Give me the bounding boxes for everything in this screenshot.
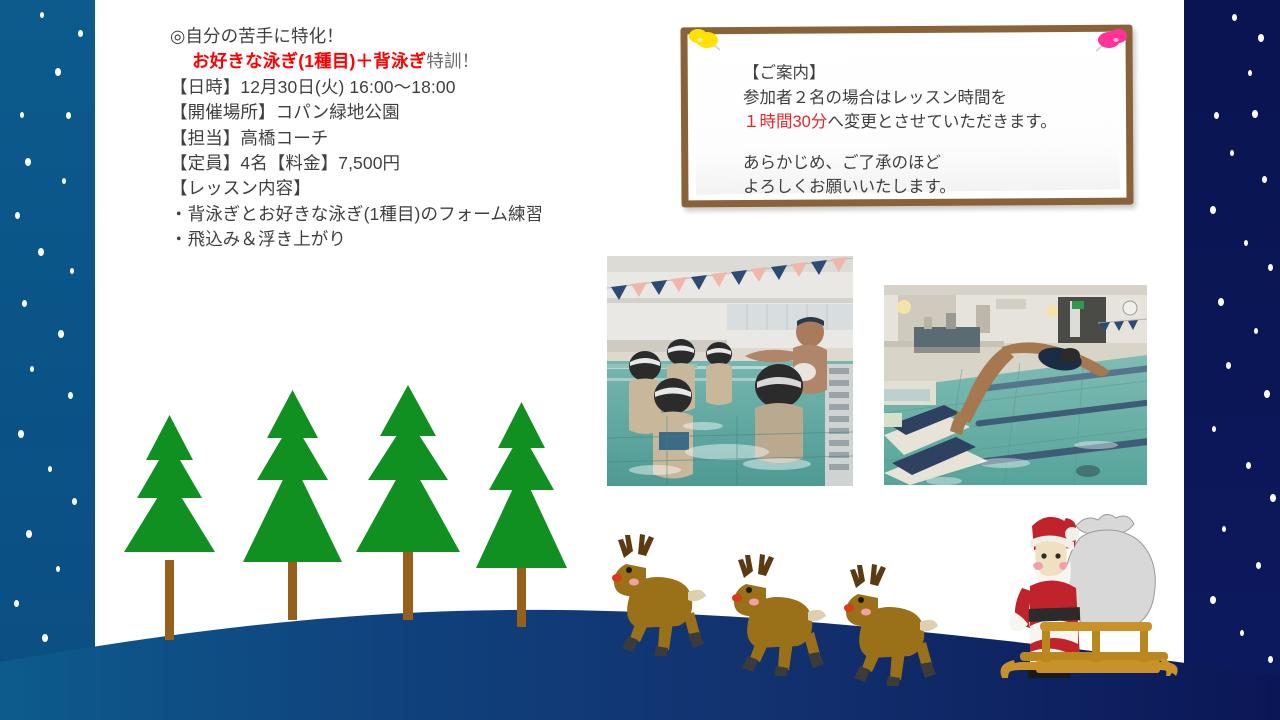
snow-dot (18, 430, 24, 438)
pushpin-pink-icon (1095, 28, 1129, 56)
reindeer-icon (830, 546, 950, 686)
info-lesson-item-1: ・背泳ぎとお好きな泳ぎ(1種目)のフォーム練習 (170, 202, 640, 227)
notice-line-3: あらかじめ、ご了承のほど (743, 151, 1119, 176)
notice-line-4: よろしくお願いいたします。 (743, 175, 1119, 200)
snow-dot (20, 112, 24, 118)
pushpin-yellow-icon (687, 28, 721, 56)
notice-heading: 【ご案内】 (743, 61, 1119, 86)
santa-with-sled (980, 500, 1180, 685)
tree-1 (124, 415, 215, 640)
tree-2 (243, 390, 342, 620)
snow-dot (1264, 390, 1270, 398)
info-datetime: 【日時】12月30日(火) 16:00〜18:00 (170, 75, 640, 100)
snow-dot (1218, 298, 1224, 306)
snow-dot (40, 12, 44, 18)
snow-dot (30, 366, 34, 372)
notice-spacer (743, 135, 1119, 151)
info-venue: 【開催場所】コパン緑地公園 (170, 100, 640, 125)
reindeer-icon (598, 516, 718, 656)
snow-dot (72, 498, 77, 505)
snow-dot (1232, 14, 1237, 21)
snow-dot (48, 466, 52, 472)
snow-dot (1252, 110, 1258, 118)
snow-dot (1256, 562, 1261, 569)
snow-dot (1246, 462, 1251, 469)
snow-dot (1258, 34, 1264, 42)
snow-dot (26, 530, 32, 538)
photo-dive (884, 285, 1147, 485)
snow-dot (1212, 426, 1216, 432)
snow-dot (1270, 494, 1276, 502)
snow-dot (56, 566, 60, 572)
snow-dot (22, 300, 27, 307)
snow-dot (25, 158, 31, 166)
snow-dot (1268, 264, 1273, 271)
snow-dot (58, 330, 64, 338)
snow-dot (1230, 150, 1234, 156)
notice-line-1: 参加者２名の場合はレッスン時間を (743, 86, 1119, 111)
lesson-info-block: ◎自分の苦手に特化！ お好きな泳ぎ(1種目)＋背泳ぎ特訓！ 【日時】12月30日… (170, 24, 640, 253)
info-subheadline-red: お好きな泳ぎ(1種目)＋背泳ぎ (192, 51, 426, 71)
snow-dot (68, 392, 73, 399)
snow-dot (1210, 206, 1216, 214)
snow-dot (1226, 362, 1231, 369)
info-subheadline-tail: 特訓！ (426, 51, 479, 71)
info-subheadline: お好きな泳ぎ(1種目)＋背泳ぎ特訓！ (170, 49, 640, 74)
photo-pool-lesson (607, 256, 853, 486)
notice-duration-red: １時間30分 (743, 113, 827, 131)
snow-dot (78, 30, 83, 37)
reindeer-icon (718, 536, 838, 676)
snow-dot (1262, 176, 1267, 183)
poster-canvas: ◎自分の苦手に特化！ お好きな泳ぎ(1種目)＋背泳ぎ特訓！ 【日時】12月30日… (0, 0, 1280, 720)
info-headline: ◎自分の苦手に特化！ (170, 24, 640, 49)
sled-icon (1001, 622, 1178, 678)
snow-dot (1244, 240, 1248, 246)
snow-dot (55, 68, 61, 76)
notice-line-2: １時間30分へ変更とさせていただきます。 (743, 110, 1119, 135)
notice-line-2-tail: へ変更とさせていただきます。 (827, 113, 1056, 131)
christmas-trees (120, 380, 590, 650)
snow-dot (62, 178, 66, 184)
snow-dot (1222, 526, 1226, 532)
snow-dot (1214, 112, 1219, 119)
info-lesson-heading: 【レッスン内容】 (170, 176, 640, 201)
notice-text: 【ご案内】 参加者２名の場合はレッスン時間を １時間30分へ変更とさせていただき… (743, 61, 1119, 200)
snow-dot (66, 112, 71, 119)
notice-board: 【ご案内】 参加者２名の場合はレッスン時間を １時間30分へ変更とさせていただき… (681, 26, 1133, 206)
info-staff: 【担当】高橋コーチ (170, 126, 640, 151)
snow-dot (1248, 70, 1252, 76)
info-capacity-fee: 【定員】4名【料金】7,500円 (170, 151, 640, 176)
snow-dot (1254, 328, 1258, 334)
info-lesson-item-2: ・飛込み＆浮き上がり (170, 227, 640, 252)
tree-3 (356, 385, 460, 620)
snow-dot (15, 212, 20, 219)
tree-4 (476, 402, 567, 627)
snow-dot (38, 248, 44, 256)
snow-dot (70, 268, 74, 274)
